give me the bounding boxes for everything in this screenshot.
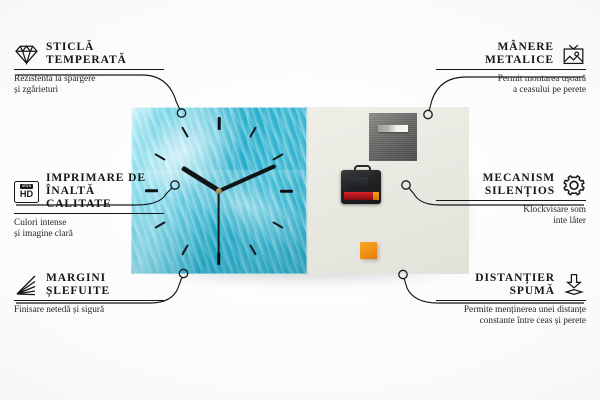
arrow-down-layers-icon (562, 273, 586, 297)
diamond-icon (14, 44, 39, 65)
callout-title: MARGINI ȘLEFUITE (46, 272, 110, 298)
callout-head: MÂNERE METALICE (436, 41, 586, 67)
hour-hand (180, 165, 220, 193)
foam-spacer (360, 242, 377, 259)
callout-subtitle: Permit montarea ușoară a ceasului pe per… (436, 74, 586, 96)
callout-title: DISTANȚIER SPUMĂ (475, 272, 555, 298)
tick-4 (272, 221, 283, 229)
callout-title: MÂNERE METALICE (485, 41, 554, 67)
movement-shaft-housing (348, 177, 368, 188)
callout-hd-print: ultra HD IMPRIMARE DE ÎNALTĂ CALITATE Cu… (14, 172, 164, 240)
tick-2 (272, 153, 283, 161)
product-photo (131, 107, 469, 274)
callout-subtitle: Klockvisare som inte låter (436, 205, 586, 227)
infographic-canvas: STICLĂ TEMPERATĂ Rezistentă la spargere … (0, 0, 600, 400)
callout-metal-hangers: MÂNERE METALICE Permit montarea ușoară a… (436, 41, 586, 96)
tick-1 (249, 126, 257, 137)
tick-11 (181, 126, 189, 137)
callout-polished-edges: MARGINI ȘLEFUITE Finisare netedă și sigu… (14, 272, 164, 316)
picture-hanger-icon (561, 43, 586, 65)
callout-rule (436, 200, 586, 201)
tick-12 (218, 117, 221, 130)
callout-head: ultra HD IMPRIMARE DE ÎNALTĂ CALITATE (14, 172, 164, 211)
callout-foam-spacer: DISTANȚIER SPUMĂ Permite menținerea unei… (436, 272, 586, 327)
battery-positive-tip (373, 192, 379, 200)
callout-title: MECANISM SILENȚIOS (483, 172, 555, 198)
callout-subtitle: Finisare netedă și sigură (14, 305, 164, 316)
callout-subtitle: Rezistentă la spargere și zgârieturi (14, 74, 164, 96)
callout-head: STICLĂ TEMPERATĂ (14, 41, 164, 67)
callout-rule (14, 300, 164, 301)
callout-head: MARGINI ȘLEFUITE (14, 272, 164, 298)
callout-tempered-glass: STICLĂ TEMPERATĂ Rezistentă la spargere … (14, 41, 164, 96)
callout-rule (436, 300, 586, 301)
callout-rule (14, 213, 164, 214)
polished-edges-icon (14, 275, 39, 296)
callout-head: MECANISM SILENȚIOS (436, 172, 586, 198)
callout-subtitle: Permite menținerea unei distanțe constan… (436, 305, 586, 327)
hanger-strip (378, 125, 408, 132)
callout-rule (14, 69, 164, 70)
callout-subtitle: Culori intense și imagine clară (14, 218, 164, 240)
callout-title: IMPRIMARE DE ÎNALTĂ CALITATE (46, 172, 164, 211)
callout-head: DISTANȚIER SPUMĂ (436, 272, 586, 298)
metal-hanger-plate (369, 113, 417, 161)
hd-label: HD (20, 190, 33, 199)
callout-rule (436, 69, 586, 70)
tick-10 (154, 153, 165, 161)
callout-silent-mechanism: MECANISM SILENȚIOS Klockvisare som inte … (436, 172, 586, 227)
gear-icon (562, 174, 586, 197)
clock-hub (216, 188, 222, 194)
tick-3 (280, 189, 293, 192)
tick-7 (181, 244, 189, 255)
tick-5 (249, 244, 257, 255)
minute-hand (218, 163, 276, 192)
second-hand (218, 191, 220, 255)
quartz-clock-movement (341, 165, 381, 204)
ultra-hd-badge-icon: ultra HD (14, 181, 39, 203)
callout-title: STICLĂ TEMPERATĂ (46, 41, 127, 67)
